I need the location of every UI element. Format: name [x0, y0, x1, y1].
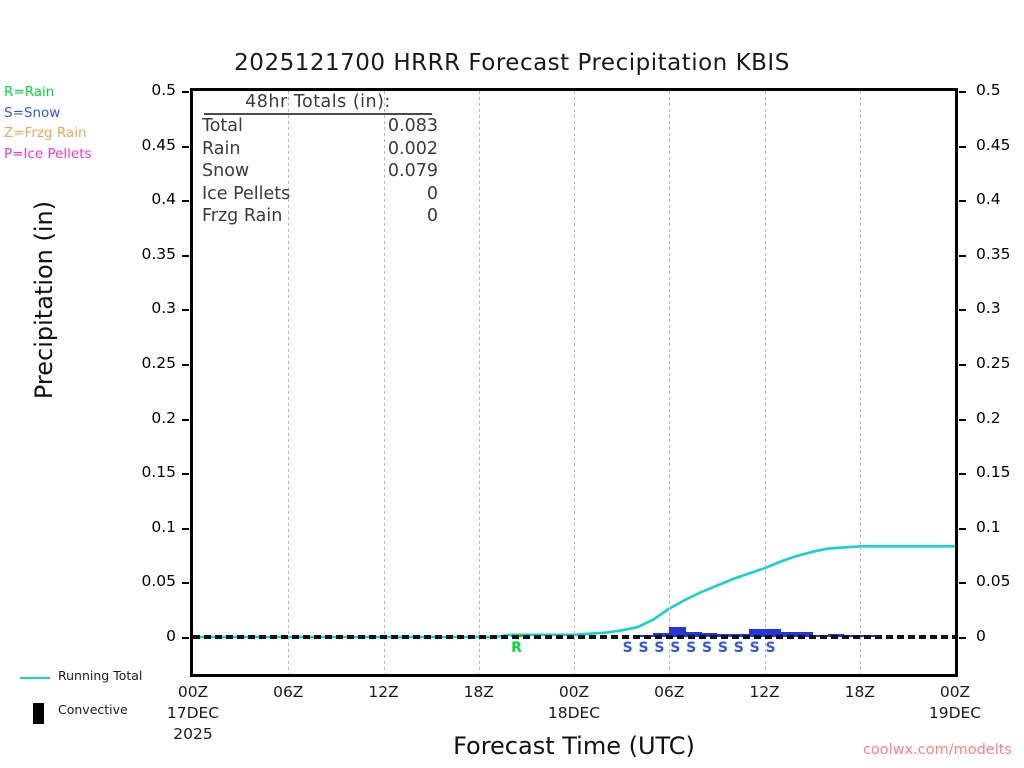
ptype-marker-s: S: [699, 640, 715, 656]
y-axis-tick-label-left: 0.2: [128, 409, 176, 427]
page-title: 2025121700 HRRR Forecast Precipitation K…: [0, 50, 1024, 76]
totals-row-value: 0.079: [388, 160, 438, 183]
y-axis-tick-label-right: 0.5: [976, 81, 1024, 99]
x-axis-tick-label: 18Z: [815, 683, 905, 701]
ptype-marker-s: S: [747, 640, 763, 656]
totals-row-value: 0: [427, 183, 438, 206]
y-axis-tick-label-right: 0.3: [976, 299, 1024, 317]
y-axis-tick-mark-left: [182, 146, 189, 148]
totals-row-value: 0.083: [388, 115, 438, 138]
ptype-marker-s: S: [715, 640, 731, 656]
y-axis-tick-mark-left: [182, 255, 189, 257]
totals-row-label: Total: [202, 115, 243, 138]
ptype-marker-r: R: [509, 640, 525, 656]
totals-heading: 48hr Totals (in):: [204, 92, 432, 115]
totals-row-label: Rain: [202, 138, 240, 161]
y-axis-tick-mark-right: [959, 91, 966, 93]
ptype-legend-item-1: S=Snow: [4, 103, 154, 124]
gridline-vertical: [860, 91, 861, 674]
x-axis-date-label: 19DEC: [910, 704, 1000, 722]
y-axis-tick-label-left: 0.15: [128, 463, 176, 481]
y-axis-tick-mark-right: [959, 528, 966, 530]
y-axis-tick-label-left: 0.25: [128, 354, 176, 372]
ptype-marker-s: S: [636, 640, 652, 656]
totals-row-label: Snow: [202, 160, 249, 183]
totals-row-label: Ice Pellets: [202, 183, 290, 206]
gridline-vertical: [765, 91, 766, 674]
y-axis-tick-label-left: 0.45: [128, 136, 176, 154]
y-axis-tick-label-right: 0.25: [976, 354, 1024, 372]
x-axis-date-label: 18DEC: [529, 704, 619, 722]
running-total-swatch-icon: [20, 677, 50, 679]
y-axis-tick-label-right: 0.4: [976, 190, 1024, 208]
y-axis-tick-label-right: 0.05: [976, 572, 1024, 590]
y-axis-tick-label-right: 0: [976, 627, 1024, 645]
y-axis-tick-label-right: 0.15: [976, 463, 1024, 481]
y-axis-tick-label-left: 0.05: [128, 572, 176, 590]
totals-row-value: 0: [427, 205, 438, 228]
x-axis-year-label: 2025: [148, 725, 238, 743]
y-axis-tick-mark-right: [959, 419, 966, 421]
legend-convective-label: Convective: [58, 702, 128, 717]
y-axis-tick-label-left: 0.3: [128, 299, 176, 317]
y-axis-tick-mark-right: [959, 200, 966, 202]
y-axis-tick-mark-left: [182, 637, 189, 639]
y-axis-tick-mark-right: [959, 146, 966, 148]
y-axis-tick-label-left: 0.4: [128, 190, 176, 208]
totals-row: Snow0.079: [202, 160, 438, 183]
y-axis-tick-mark-left: [182, 582, 189, 584]
y-axis-tick-label-right: 0.35: [976, 245, 1024, 263]
y-axis-tick-label-right: 0.1: [976, 518, 1024, 536]
totals-row-label: Frzg Rain: [202, 205, 282, 228]
ptype-marker-s: S: [683, 640, 699, 656]
y-axis-tick-label-left: 0.5: [128, 81, 176, 99]
totals-row: Frzg Rain0: [202, 205, 438, 228]
x-axis-title: Forecast Time (UTC): [190, 732, 958, 760]
gridline-vertical: [669, 91, 670, 674]
y-axis-tick-mark-right: [959, 309, 966, 311]
y-axis-tick-mark-left: [182, 419, 189, 421]
totals-row: Total0.083: [202, 115, 438, 138]
ptype-marker-s: S: [667, 640, 683, 656]
y-axis-tick-label-right: 0.2: [976, 409, 1024, 427]
gridline-vertical: [479, 91, 480, 674]
y-axis-tick-label-left: 0.1: [128, 518, 176, 536]
x-axis-tick-label: 18Z: [434, 683, 524, 701]
x-axis-tick-label: 06Z: [624, 683, 714, 701]
totals-rows: Total0.083Rain0.002Snow0.079Ice Pellets0…: [200, 115, 450, 228]
legend-running-total-label: Running Total: [58, 668, 142, 683]
convective-swatch-icon: [33, 703, 44, 724]
y-axis-title: Precipitation (in): [30, 100, 58, 500]
ptype-marker-s: S: [620, 640, 636, 656]
ptype-marker-s: S: [651, 640, 667, 656]
y-axis-tick-label-left: 0: [128, 627, 176, 645]
totals-row-value: 0.002: [388, 138, 438, 161]
y-axis-tick-mark-right: [959, 364, 966, 366]
y-axis-tick-label-left: 0.35: [128, 245, 176, 263]
x-axis-tick-label: 00Z: [529, 683, 619, 701]
y-axis-tick-mark-left: [182, 200, 189, 202]
y-axis-tick-label-right: 0.45: [976, 136, 1024, 154]
zero-baseline: [193, 635, 955, 639]
x-axis-tick-label: 12Z: [720, 683, 810, 701]
totals-panel: 48hr Totals (in): Total0.083Rain0.002Sno…: [200, 92, 450, 228]
y-axis-tick-mark-right: [959, 637, 966, 639]
x-axis-tick-label: 12Z: [339, 683, 429, 701]
y-axis-tick-mark-left: [182, 309, 189, 311]
totals-row: Rain0.002: [202, 138, 438, 161]
x-axis-tick-label: 00Z: [910, 683, 1000, 701]
ptype-marker-s: S: [731, 640, 747, 656]
ptype-marker-s: S: [763, 640, 779, 656]
y-axis-tick-mark-left: [182, 91, 189, 93]
y-axis-tick-mark-right: [959, 255, 966, 257]
y-axis-tick-mark-right: [959, 582, 966, 584]
x-axis-tick-label: 06Z: [243, 683, 333, 701]
totals-row: Ice Pellets0: [202, 183, 438, 206]
y-axis-tick-mark-left: [182, 364, 189, 366]
x-axis-tick-label: 00Z: [148, 683, 238, 701]
x-axis-date-label: 17DEC: [148, 704, 238, 722]
footer-credit: coolwx.com/modelts: [863, 742, 1012, 758]
y-axis-tick-mark-right: [959, 473, 966, 475]
y-axis-tick-mark-left: [182, 528, 189, 530]
gridline-vertical: [574, 91, 575, 674]
y-axis-tick-mark-left: [182, 473, 189, 475]
